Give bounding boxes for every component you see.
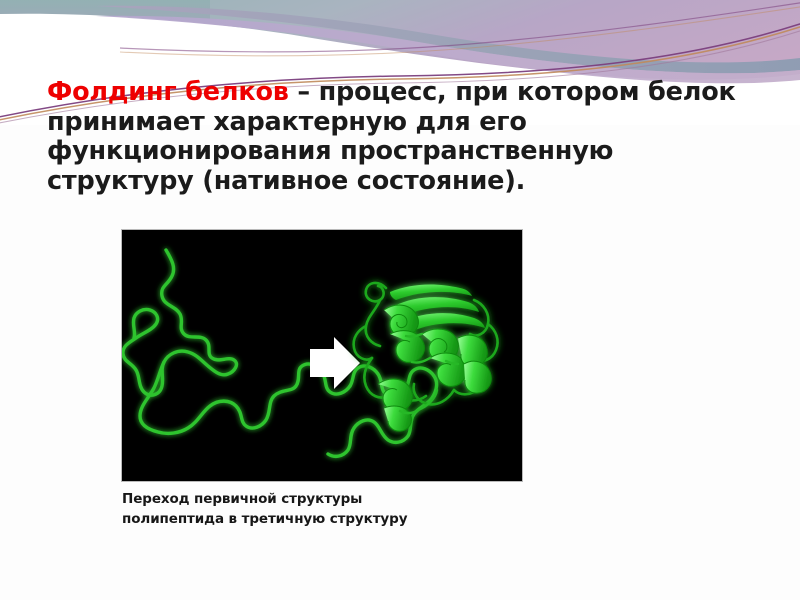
slide: Фолдинг белков – процесс, при котором бе… xyxy=(0,0,800,600)
banner-lilac-band xyxy=(96,16,800,83)
figure-caption: Переход первичной структуры полипептида … xyxy=(122,489,522,529)
caption-line-1: Переход первичной структуры xyxy=(122,489,522,509)
definition-paragraph: Фолдинг белков – процесс, при котором бе… xyxy=(47,78,762,196)
banner-accent-curves-upper xyxy=(120,2,800,56)
banner-slate-band xyxy=(96,6,800,73)
caption-line-2: полипептида в третичную структуру xyxy=(122,509,522,529)
protein-folding-figure xyxy=(121,229,523,482)
term-folding-proteins: Фолдинг белков xyxy=(47,77,289,107)
